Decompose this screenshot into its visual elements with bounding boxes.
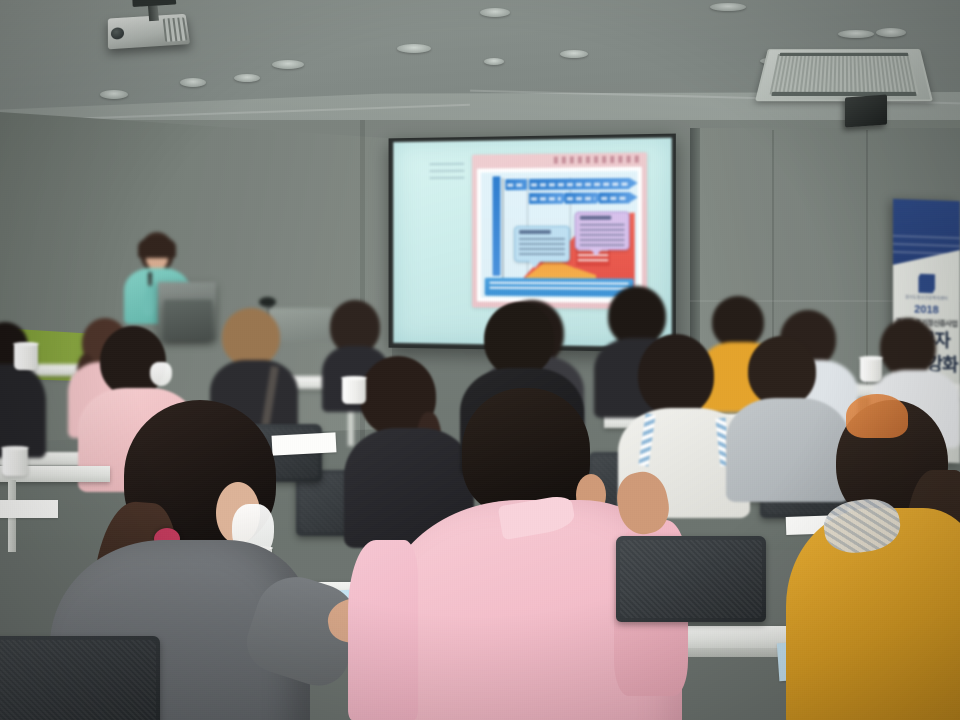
stage-bar-premorbid xyxy=(505,179,527,190)
chair[interactable] xyxy=(0,636,160,720)
attendee-top xyxy=(0,364,46,458)
attendee-hair xyxy=(462,388,590,516)
callout-basic-symptoms xyxy=(514,226,570,262)
callout-text xyxy=(580,224,625,246)
attendee-hair-highlight xyxy=(846,394,908,438)
cup-rim xyxy=(1,446,29,450)
bar-label xyxy=(601,196,627,199)
podium-base xyxy=(164,300,212,340)
attendee-hair xyxy=(484,302,554,376)
recessed-downlight xyxy=(484,58,504,65)
vent-grill xyxy=(770,54,919,94)
projector-lens xyxy=(111,27,124,40)
bar-label xyxy=(531,197,561,200)
projector-vent xyxy=(163,17,188,42)
attendee-hair xyxy=(222,308,280,366)
handout-paper[interactable] xyxy=(272,432,337,455)
callout-tail xyxy=(590,249,602,256)
vent-slot xyxy=(779,53,908,56)
banner-logo-caption: 경기도정신건강복지센터 xyxy=(893,294,960,302)
banner-logo-icon xyxy=(918,274,935,294)
recessed-downlight xyxy=(480,8,510,17)
phase-bar-late xyxy=(599,192,630,203)
banner-year: 2018 xyxy=(893,303,960,317)
paper-cup[interactable] xyxy=(342,378,366,404)
recessed-downlight xyxy=(234,74,260,82)
slide-handwritten-note xyxy=(430,163,465,183)
attendee-top xyxy=(726,398,850,502)
chair-mesh xyxy=(620,540,762,618)
callout-title xyxy=(580,216,612,220)
bar-label xyxy=(507,183,525,186)
recessed-downlight xyxy=(397,44,431,53)
wall-speaker xyxy=(845,95,887,128)
callout-warning-signs xyxy=(575,212,630,251)
face-mask xyxy=(150,362,172,386)
callout-tail xyxy=(529,261,541,268)
slide-content-card xyxy=(472,152,647,309)
bar-label xyxy=(531,182,628,186)
banner-header-block xyxy=(893,199,960,267)
stage-progression-diagram xyxy=(481,171,638,299)
presenter-hair-top xyxy=(138,236,176,258)
lecture-room-photo: 경기도정신건강복지센터 2018 경기도 조기정신증사업 실무자 역량강화 워크… xyxy=(0,0,960,720)
cup-rim xyxy=(13,342,39,346)
projector-mount xyxy=(148,4,159,21)
attendee-hair xyxy=(638,334,714,416)
recessed-downlight xyxy=(560,50,588,58)
chair-mesh xyxy=(0,640,156,720)
attendee-hair xyxy=(712,296,764,348)
attendee-hair xyxy=(748,336,816,406)
paper-cup[interactable] xyxy=(860,358,882,382)
recessed-downlight xyxy=(710,3,746,11)
phase-bar-mid xyxy=(565,192,597,203)
attendee-hair xyxy=(100,326,166,396)
stage-bar-prodromal xyxy=(529,178,630,190)
recessed-downlight xyxy=(838,30,874,38)
mic-stand-head xyxy=(259,297,276,307)
diagram-vertical-axis xyxy=(493,176,501,276)
recessed-downlight xyxy=(180,78,206,87)
ceiling-projector xyxy=(108,14,190,50)
callout-text xyxy=(519,238,565,258)
microphone xyxy=(148,272,152,286)
paper-cup[interactable] xyxy=(2,448,28,476)
attendee-hair xyxy=(608,286,666,346)
attendee-hair xyxy=(880,318,936,376)
slide-caption-bar xyxy=(485,278,634,297)
banner-wave xyxy=(893,235,960,239)
recessed-downlight xyxy=(272,60,304,69)
paper-cup[interactable] xyxy=(14,344,38,370)
slide-caption-text xyxy=(490,282,629,293)
vent-slot xyxy=(771,92,916,96)
diagram-axis-line xyxy=(502,178,503,282)
banner-wave xyxy=(893,243,960,247)
ceiling-air-conditioner xyxy=(755,49,933,101)
recessed-downlight xyxy=(100,90,128,99)
slide-inner-white xyxy=(477,167,642,303)
banner-wave xyxy=(893,251,960,255)
phase-bar-early xyxy=(529,193,563,204)
slide-title-band xyxy=(554,155,643,163)
chair[interactable] xyxy=(616,536,766,622)
handout-paper[interactable] xyxy=(0,500,58,518)
cup-rim xyxy=(859,356,883,360)
recessed-downlight xyxy=(876,28,906,37)
callout-title xyxy=(519,230,551,234)
bar-label xyxy=(567,197,595,200)
attendee-arm xyxy=(348,540,418,720)
cup-rim xyxy=(341,376,367,380)
